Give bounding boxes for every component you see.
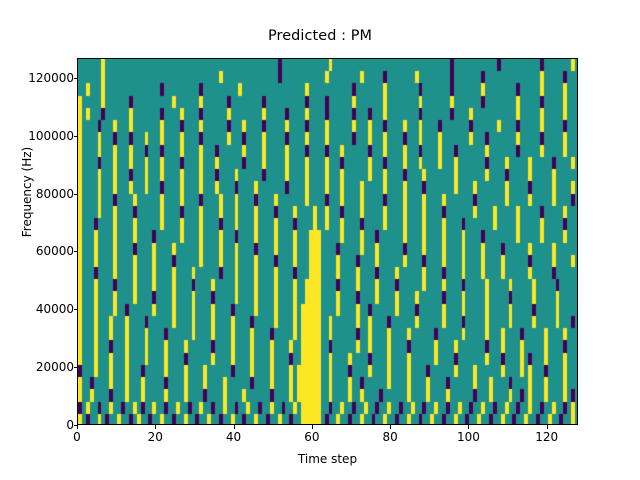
x-tick-mark bbox=[390, 425, 391, 429]
heatmap-canvas bbox=[78, 59, 578, 425]
x-tick-mark bbox=[468, 425, 469, 429]
x-tick-mark bbox=[234, 425, 235, 429]
x-tick-label: 120 bbox=[535, 430, 558, 444]
y-tick-label: 60000 bbox=[36, 244, 74, 258]
y-tick-label: 20000 bbox=[36, 360, 74, 374]
y-tick-mark bbox=[74, 194, 78, 195]
y-tick-label: 80000 bbox=[36, 187, 74, 201]
x-tick-label: 80 bbox=[382, 430, 397, 444]
x-axis-label: Time step bbox=[77, 452, 578, 466]
x-tick-mark bbox=[547, 425, 548, 429]
x-tick-label: 20 bbox=[148, 430, 163, 444]
x-tick-label: 40 bbox=[226, 430, 241, 444]
y-tick-mark bbox=[74, 78, 78, 79]
x-tick-mark bbox=[155, 425, 156, 429]
x-tick-mark bbox=[312, 425, 313, 429]
chart-title: Predicted : PM bbox=[0, 28, 640, 44]
x-tick-label: 100 bbox=[457, 430, 480, 444]
x-tick-label: 0 bbox=[73, 430, 81, 444]
y-tick-mark bbox=[74, 309, 78, 310]
y-tick-mark bbox=[74, 367, 78, 368]
y-tick-label: 40000 bbox=[36, 302, 74, 316]
y-axis-label: Frequency (Hz) bbox=[20, 112, 34, 272]
y-tick-mark bbox=[74, 136, 78, 137]
matplotlib-figure: Predicted : PM 0200004000060000800001000… bbox=[0, 0, 640, 480]
heatmap-axes bbox=[77, 58, 578, 425]
x-tick-label: 60 bbox=[304, 430, 319, 444]
y-tick-label: 120000 bbox=[28, 71, 74, 85]
x-tick-mark bbox=[77, 425, 78, 429]
y-tick-label: 100000 bbox=[28, 129, 74, 143]
y-tick-mark bbox=[74, 251, 78, 252]
